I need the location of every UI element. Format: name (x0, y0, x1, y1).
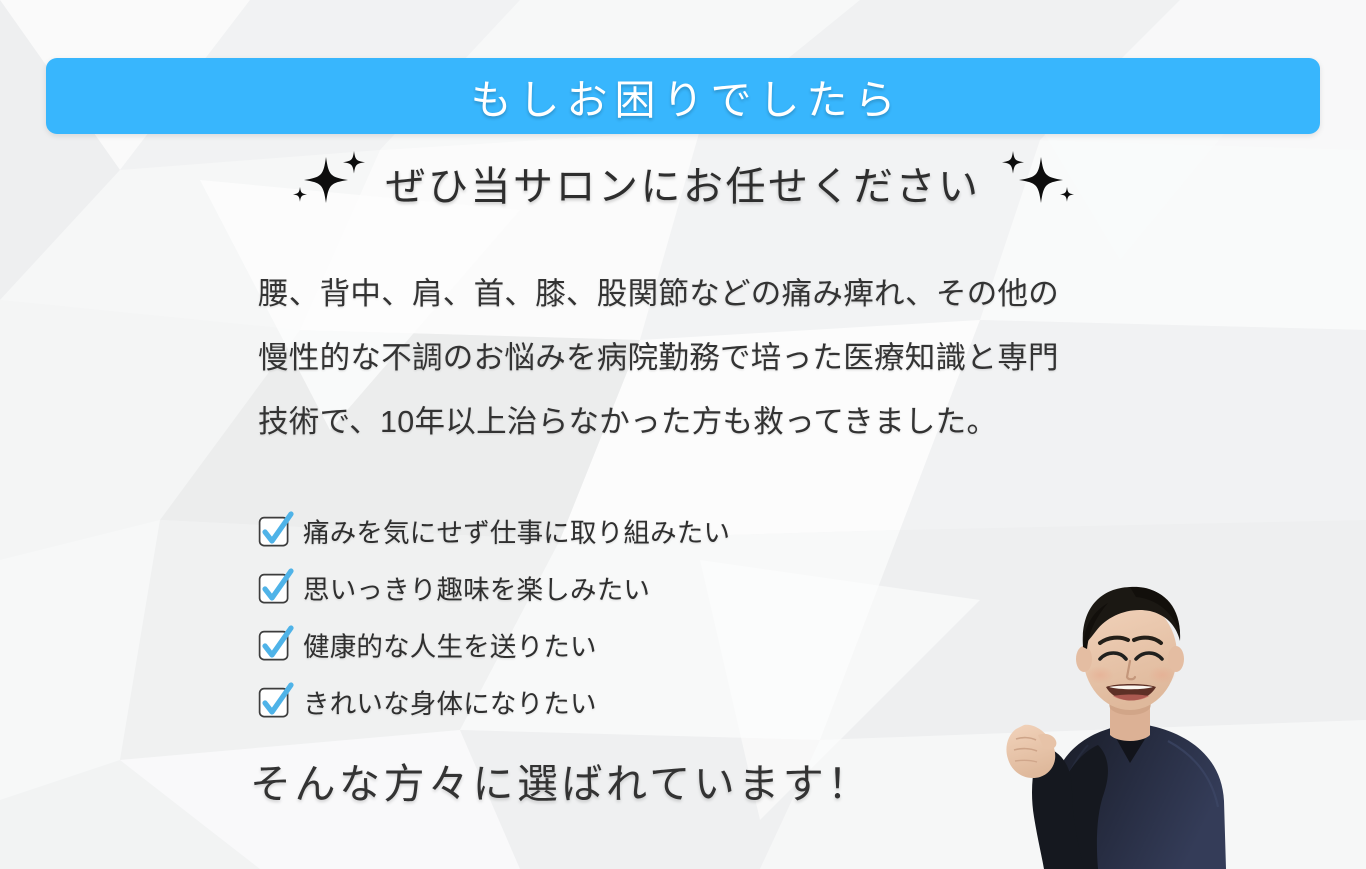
subtitle-text: ぜひ当サロンにお任せください (386, 154, 981, 212)
list-item-label: きれいな身体になりたい (303, 682, 597, 721)
sparkle-icon (292, 149, 372, 211)
closing-statement: そんな方々に選ばれています！ (250, 750, 872, 810)
benefits-checklist: 痛みを気にせず仕事に取り組みたい 思いっきり趣味を楽しみたい 健康的な人生を送り… (258, 502, 730, 730)
list-item-label: 痛みを気にせず仕事に取り組みたい (303, 511, 730, 550)
paragraph-line: 慢性的な不調のお悩みを病院勤務で培った医療知識と専門 (258, 326, 1108, 390)
list-item-label: 健康的な人生を送りたい (303, 625, 597, 664)
paragraph-line: 技術で、10年以上治らなかった方も救ってきました。 (258, 390, 1108, 454)
sparkle-icon (995, 149, 1075, 211)
therapist-photo (980, 549, 1280, 869)
list-item[interactable]: 思いっきり趣味を楽しみたい (258, 559, 730, 616)
body-paragraph: 腰、背中、肩、首、膝、股関節などの痛み痺れ、その他の 慢性的な不調のお悩みを病院… (258, 262, 1108, 454)
checkbox-checked-icon[interactable] (258, 628, 292, 662)
list-item[interactable]: 痛みを気にせず仕事に取り組みたい (258, 502, 730, 559)
list-item[interactable]: 健康的な人生を送りたい (258, 616, 730, 673)
page-title: もしお困りでしたら (464, 66, 903, 126)
subtitle-row: ぜひ当サロンにお任せください (0, 152, 1366, 214)
header-banner: もしお困りでしたら (46, 58, 1320, 134)
list-item-label: 思いっきり趣味を楽しみたい (303, 568, 650, 607)
paragraph-line: 腰、背中、肩、首、膝、股関節などの痛み痺れ、その他の (258, 262, 1108, 326)
checkbox-checked-icon[interactable] (258, 514, 292, 548)
list-item[interactable]: きれいな身体になりたい (258, 673, 730, 730)
checkbox-checked-icon[interactable] (258, 571, 292, 605)
promo-page: もしお困りでしたら ぜひ当サロンにお任せください 腰、背中、肩、首、膝、股関節な… (0, 0, 1366, 869)
checkbox-checked-icon[interactable] (258, 685, 292, 719)
